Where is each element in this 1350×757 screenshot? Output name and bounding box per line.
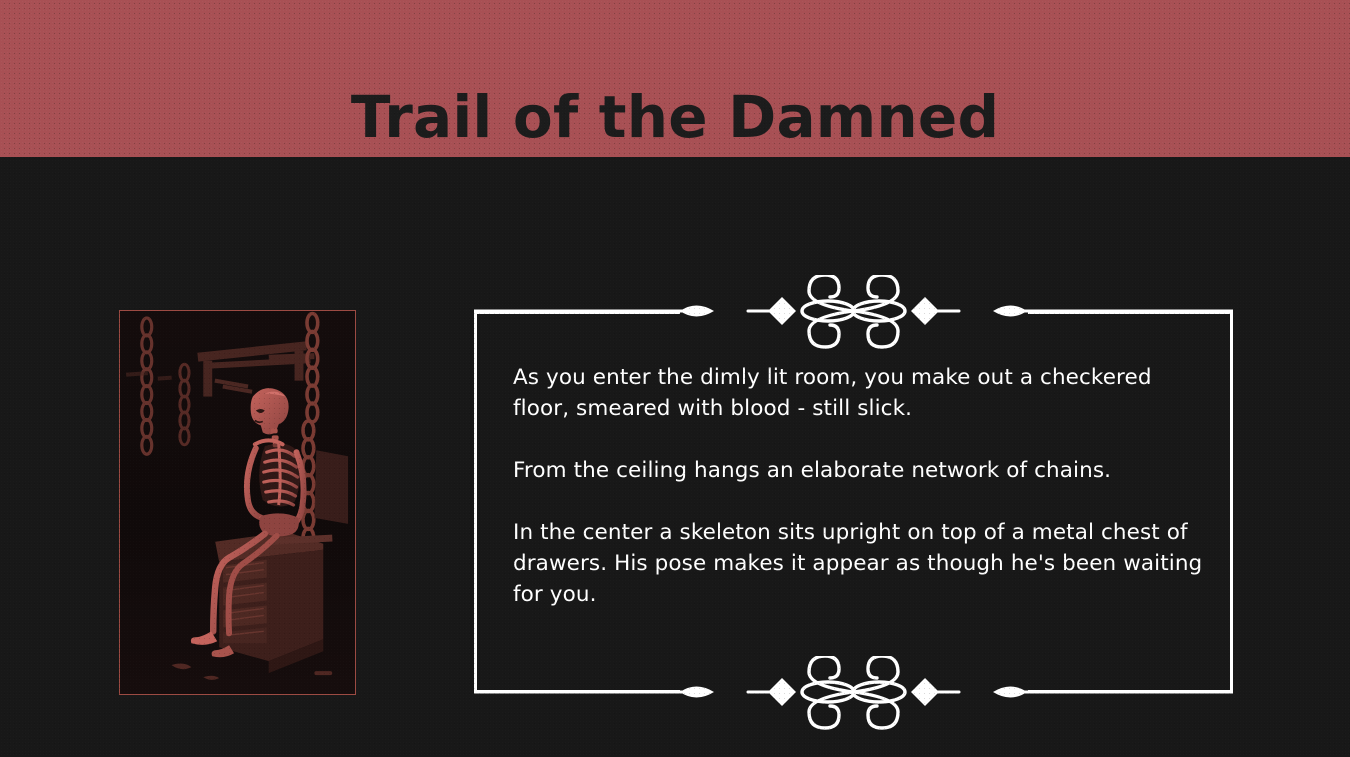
header-band: Trail of the Damned (0, 0, 1350, 157)
slide: Trail of the Damned (0, 0, 1350, 757)
page-title: Trail of the Damned (0, 88, 1350, 146)
paragraph-1: As you enter the dimly lit room, you mak… (513, 362, 1213, 424)
room-description-text: As you enter the dimly lit room, you mak… (513, 362, 1213, 610)
illustration-skeleton (119, 310, 356, 695)
skeleton-scene-svg (120, 311, 355, 694)
frame-gap-mask-top (680, 309, 1028, 314)
paragraph-3: In the center a skeleton sits upright on… (513, 517, 1213, 610)
frame-gap-mask-bottom (680, 688, 1028, 693)
illustration-canvas (120, 311, 355, 694)
paragraph-2: From the ceiling hangs an elaborate netw… (513, 455, 1213, 486)
